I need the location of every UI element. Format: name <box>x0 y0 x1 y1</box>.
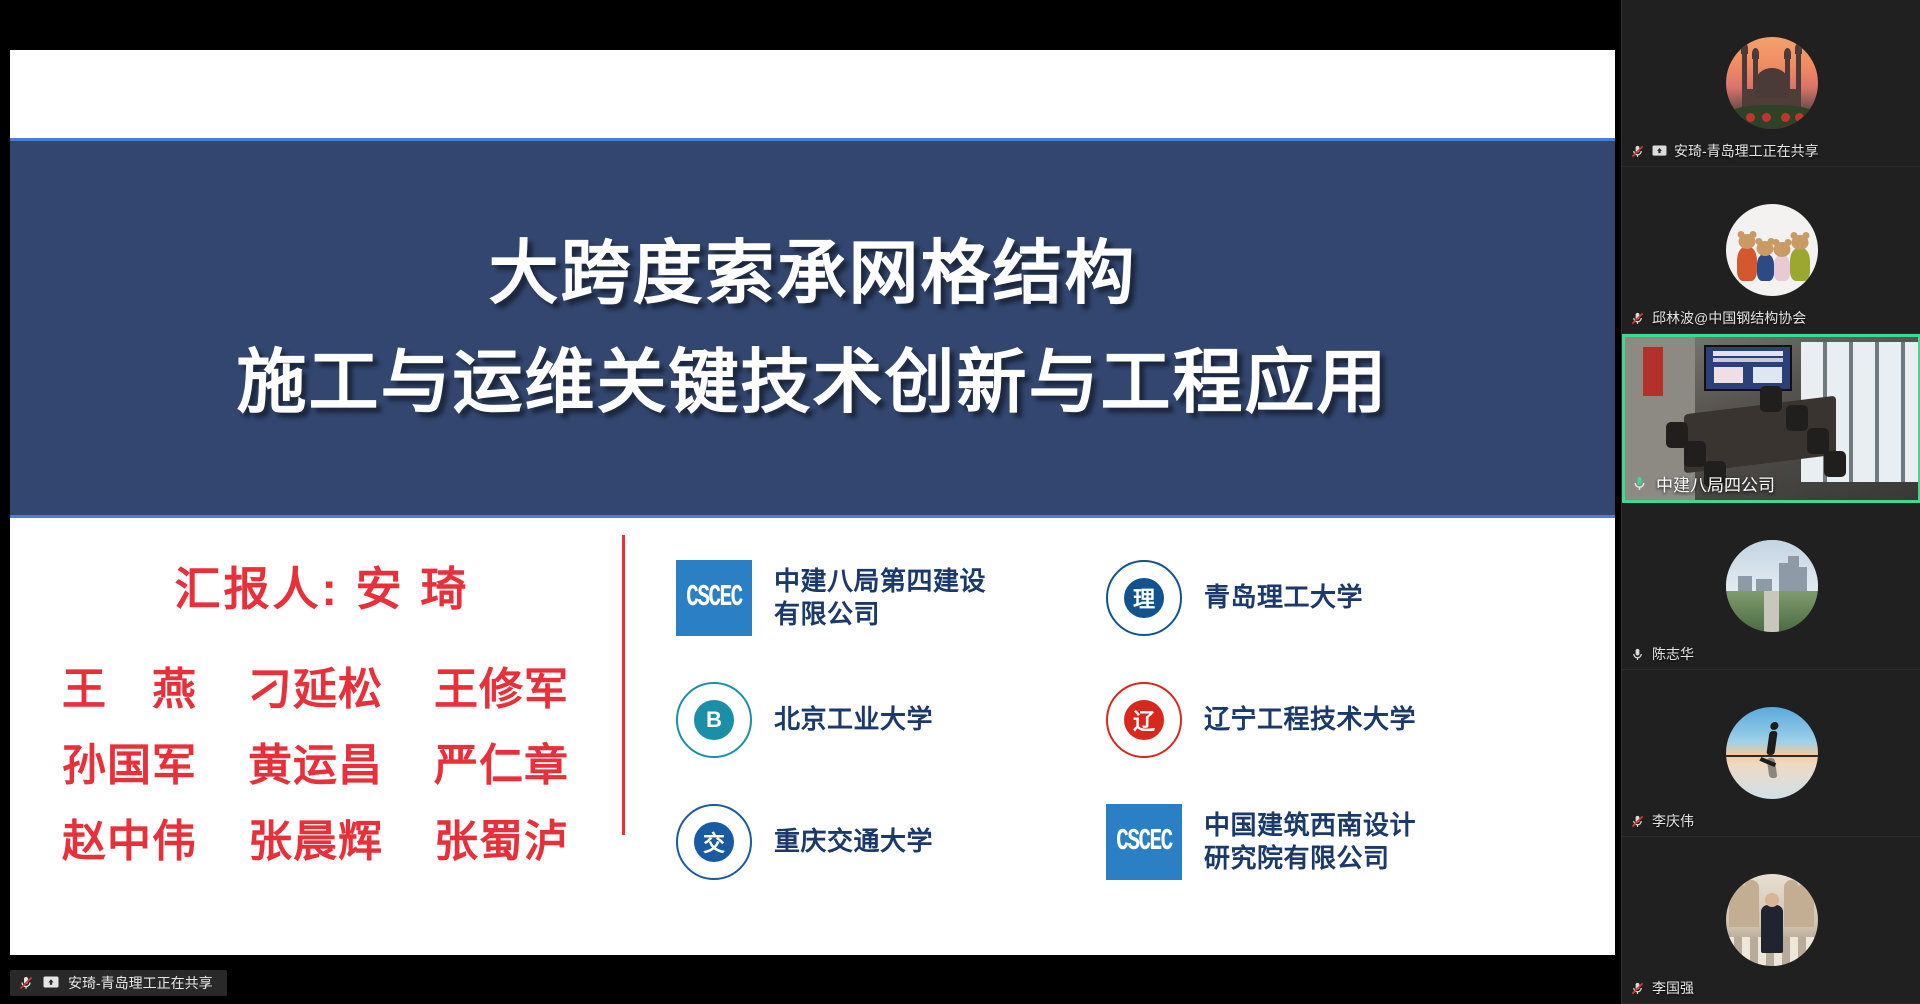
slide-title-line-1: 大跨度索承网格结构 <box>489 232 1137 315</box>
mic-muted-icon[interactable] <box>1630 144 1645 159</box>
participant-tile[interactable]: 李庆伟 <box>1622 670 1920 837</box>
organization-name: 中国建筑西南设计 研究院有限公司 <box>1204 809 1416 876</box>
author-name: 张晨辉 <box>248 805 434 869</box>
mic-muted-icon[interactable] <box>1630 311 1645 326</box>
beijing-university-of-technology-seal: B <box>676 682 752 758</box>
shared-screen-area[interactable]: 大跨度索承网格结构 施工与运维关键技术创新与工程应用 汇报人: 安 琦 王 燕 … <box>0 0 1621 1004</box>
slide-title-banner: 大跨度索承网格结构 施工与运维关键技术创新与工程应用 <box>10 138 1615 518</box>
author-name: 张蜀泸 <box>434 805 620 869</box>
avatar <box>1726 540 1818 632</box>
participant-name: 中建八局四公司 <box>1656 471 1775 496</box>
screen-share-icon[interactable] <box>43 976 59 990</box>
author-row: 王 燕 刁延松 王修军 <box>62 653 622 717</box>
participant-name: 安琦-青岛理工正在共享 <box>1674 141 1819 161</box>
participant-name: 陈志华 <box>1652 644 1694 664</box>
participant-panel[interactable]: 安琦-青岛理工正在共享 <box>1621 0 1920 1004</box>
participant-tile-active-speaker[interactable]: 中建八局四公司 <box>1622 334 1920 503</box>
organization-column-right: 理 青岛理工大学 辽 辽宁工程技术大学 CSCEC <box>1106 537 1536 903</box>
participant-tile[interactable]: 陈志华 <box>1622 503 1920 670</box>
mic-on-icon[interactable] <box>1630 647 1645 662</box>
author-name: 严仁章 <box>434 729 620 793</box>
participant-tile[interactable]: 李国强 <box>1622 837 1920 1004</box>
author-name: 赵中伟 <box>62 805 248 869</box>
participant-tile[interactable]: 邱林波@中国钢结构协会 <box>1622 167 1920 334</box>
screen-share-icon[interactable] <box>1652 145 1667 158</box>
participant-name: 邱林波@中国钢结构协会 <box>1652 308 1806 328</box>
participant-label: 李国强 <box>1630 978 1694 998</box>
cscec-square-logo: CSCEC <box>1106 804 1182 880</box>
author-list: 王 燕 刁延松 王修军 孙国军 黄运昌 严仁章 赵中伟 张晨辉 张蜀泸 <box>62 653 622 869</box>
author-name: 黄运昌 <box>248 729 434 793</box>
author-name: 刁延松 <box>248 653 434 717</box>
share-status-label: 安琦-青岛理工正在共享 <box>68 973 213 993</box>
participant-label: 邱林波@中国钢结构协会 <box>1630 308 1806 328</box>
mic-on-icon[interactable] <box>1631 475 1648 492</box>
avatar <box>1726 707 1818 799</box>
participant-name: 李庆伟 <box>1652 811 1694 831</box>
avatar <box>1726 37 1818 129</box>
vertical-divider <box>622 535 625 835</box>
avatar <box>1726 874 1818 966</box>
slide-body: 汇报人: 安 琦 王 燕 刁延松 王修军 孙国军 黄运昌 严仁章 <box>10 521 1615 955</box>
organization-item: CSCEC 中国建筑西南设计 研究院有限公司 <box>1106 781 1536 903</box>
share-status-bar[interactable]: 安琦-青岛理工正在共享 <box>10 970 227 996</box>
presentation-slide: 大跨度索承网格结构 施工与运维关键技术创新与工程应用 汇报人: 安 琦 王 燕 … <box>10 50 1615 955</box>
author-name: 王修军 <box>434 653 620 717</box>
organization-item: CSCEC 中建八局第四建设 有限公司 <box>676 537 1106 659</box>
organization-logos: CSCEC 中建八局第四建设 有限公司 B 北京工业大学 <box>630 521 1615 903</box>
participant-label: 中建八局四公司 <box>1631 471 1775 496</box>
participant-label: 安琦-青岛理工正在共享 <box>1630 141 1819 161</box>
slide-title-line-2: 施工与运维关键技术创新与工程应用 <box>237 341 1389 424</box>
organization-item: 交 重庆交通大学 <box>676 781 1106 903</box>
mic-muted-icon[interactable] <box>1630 814 1645 829</box>
chongqing-jiaotong-university-seal: 交 <box>676 804 752 880</box>
mic-muted-icon[interactable] <box>18 975 34 991</box>
avatar <box>1726 204 1818 296</box>
participant-label: 陈志华 <box>1630 644 1694 664</box>
author-row: 赵中伟 张晨辉 张蜀泸 <box>62 805 622 869</box>
presenter-label: 汇报人: 安 琦 <box>62 553 582 619</box>
organization-item: 理 青岛理工大学 <box>1106 537 1536 659</box>
organization-name: 青岛理工大学 <box>1204 581 1363 614</box>
author-row: 孙国军 黄运昌 严仁章 <box>62 729 622 793</box>
participant-label: 李庆伟 <box>1630 811 1694 831</box>
organization-column-left: CSCEC 中建八局第四建设 有限公司 B 北京工业大学 <box>676 537 1106 903</box>
authors-block: 汇报人: 安 琦 王 燕 刁延松 王修军 孙国军 黄运昌 严仁章 <box>10 521 630 881</box>
cscec-square-logo: CSCEC <box>676 560 752 636</box>
participant-name: 李国强 <box>1652 978 1694 998</box>
mic-muted-icon[interactable] <box>1630 981 1645 996</box>
ln-technical-university-seal: 辽 <box>1106 682 1182 758</box>
meeting-window: 大跨度索承网格结构 施工与运维关键技术创新与工程应用 汇报人: 安 琦 王 燕 … <box>0 0 1920 1004</box>
participant-tile[interactable]: 安琦-青岛理工正在共享 <box>1622 0 1920 167</box>
author-name: 王 燕 <box>62 653 248 717</box>
organization-item: B 北京工业大学 <box>676 659 1106 781</box>
organization-name: 辽宁工程技术大学 <box>1204 703 1416 736</box>
qingdao-university-of-technology-seal: 理 <box>1106 560 1182 636</box>
organization-name: 中建八局第四建设 有限公司 <box>774 565 986 632</box>
organization-name: 北京工业大学 <box>774 703 933 736</box>
organization-name: 重庆交通大学 <box>774 825 933 858</box>
author-name: 孙国军 <box>62 729 248 793</box>
organization-item: 辽 辽宁工程技术大学 <box>1106 659 1536 781</box>
